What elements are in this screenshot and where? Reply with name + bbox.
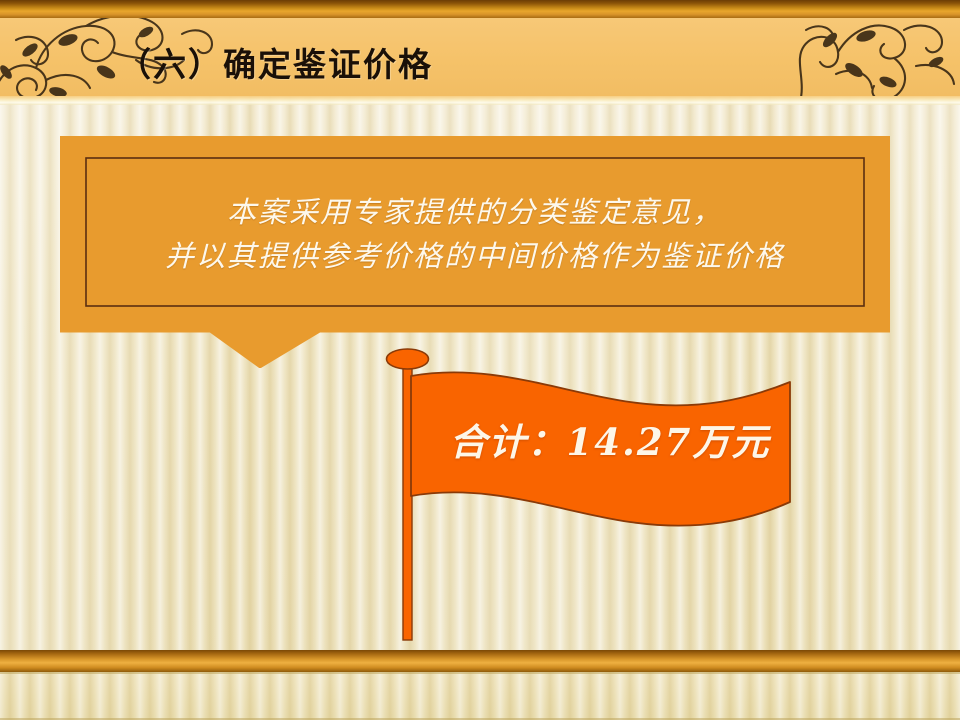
callout-text: 本案采用专家提供的分类鉴定意见， 并以其提供参考价格的中间价格作为鉴证价格 (60, 190, 890, 278)
bottom-gold-bar (0, 650, 960, 672)
bottom-strip-top-edge (0, 672, 960, 674)
callout-box: 本案采用专家提供的分类鉴定意见， 并以其提供参考价格的中间价格作为鉴证价格 (60, 136, 890, 368)
flag-total-label: 合计：14.27万元 (420, 412, 800, 466)
slide-canvas: （六）确定鉴证价格 本案采用专家提供的分类鉴定意见， 并以其提供参考价格的中间价… (0, 0, 960, 720)
flag-banner: 合计：14.27万元 (380, 340, 820, 650)
callout-line-1: 本案采用专家提供的分类鉴定意见， (60, 190, 890, 234)
flag-shape (380, 340, 820, 650)
floral-scroll-ornament-right-icon (776, 18, 960, 96)
callout-line-2: 并以其提供参考价格的中间价格作为鉴证价格 (60, 234, 890, 278)
page-title: （六）确定鉴证价格 (118, 38, 433, 86)
header-separator (0, 96, 960, 105)
bottom-strip (0, 672, 960, 720)
top-gold-bar (0, 0, 960, 18)
